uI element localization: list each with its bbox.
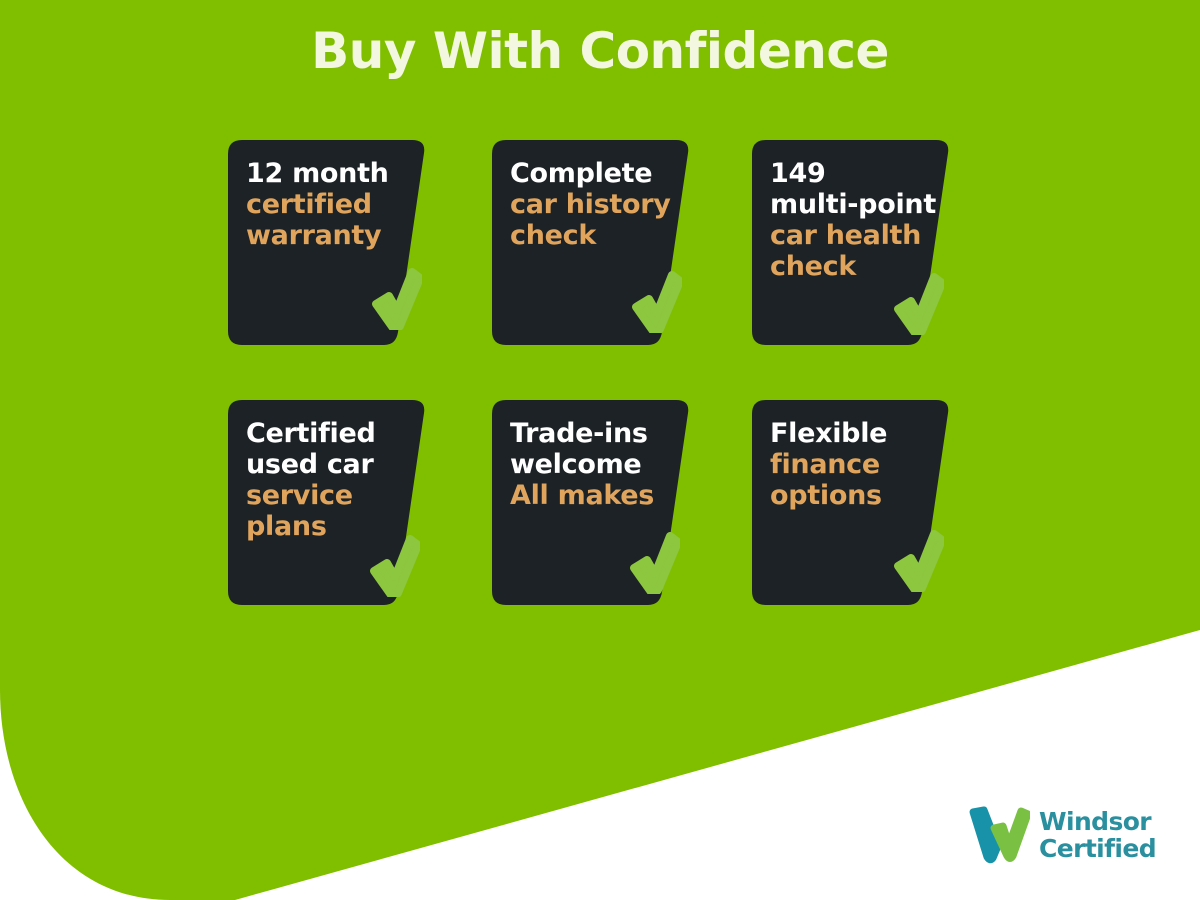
- card-line: 149: [770, 158, 930, 189]
- card-line: finance: [770, 449, 930, 480]
- card-text: Flexible finance options: [770, 418, 930, 511]
- check-mark-icon: [628, 532, 680, 594]
- card-line: service: [246, 480, 406, 511]
- card-line: car health: [770, 220, 930, 251]
- card-line: check: [510, 220, 670, 251]
- card-line: All makes: [510, 480, 670, 511]
- card-line: options: [770, 480, 930, 511]
- card-line: Certified: [246, 418, 406, 449]
- card-line: used car: [246, 449, 406, 480]
- check-mark-icon: [630, 271, 682, 333]
- check-mark-icon: [368, 535, 420, 597]
- windsor-certified-logo[interactable]: Windsor Certified: [968, 806, 1156, 864]
- feature-card-service-plans[interactable]: Certified used car service plans: [228, 400, 440, 605]
- card-line: Flexible: [770, 418, 930, 449]
- card-line: Trade-ins: [510, 418, 670, 449]
- feature-card-finance-options[interactable]: Flexible finance options: [752, 400, 964, 605]
- feature-card-car-health-check[interactable]: 149 multi-point car health check: [752, 140, 964, 345]
- card-text: 12 month certified warranty: [246, 158, 406, 251]
- feature-card-grid: 12 month certified warranty Complete car…: [228, 140, 988, 660]
- card-line: car history: [510, 189, 670, 220]
- card-line: multi-point: [770, 189, 930, 220]
- feature-card-car-history-check[interactable]: Complete car history check: [492, 140, 704, 345]
- card-text: Complete car history check: [510, 158, 670, 251]
- card-line: certified: [246, 189, 406, 220]
- check-mark-icon: [892, 530, 944, 592]
- check-mark-icon: [892, 273, 944, 335]
- card-text: Trade-ins welcome All makes: [510, 418, 670, 511]
- feature-card-trade-ins[interactable]: Trade-ins welcome All makes: [492, 400, 704, 605]
- card-line: welcome: [510, 449, 670, 480]
- feature-card-certified-warranty[interactable]: 12 month certified warranty: [228, 140, 440, 345]
- check-mark-icon: [370, 268, 422, 330]
- card-text: 149 multi-point car health check: [770, 158, 930, 282]
- card-text: Certified used car service plans: [246, 418, 406, 542]
- page-title: Buy With Confidence: [0, 22, 1200, 80]
- card-line: warranty: [246, 220, 406, 251]
- windsor-w-icon: [968, 806, 1030, 864]
- logo-wordmark: Windsor Certified: [1039, 808, 1156, 862]
- logo-line-windsor: Windsor: [1039, 808, 1156, 835]
- card-row: 12 month certified warranty Complete car…: [228, 140, 988, 400]
- card-line: Complete: [510, 158, 670, 189]
- card-row: Certified used car service plans Trade-i…: [228, 400, 988, 660]
- logo-line-certified: Certified: [1039, 835, 1156, 862]
- card-line: 12 month: [246, 158, 406, 189]
